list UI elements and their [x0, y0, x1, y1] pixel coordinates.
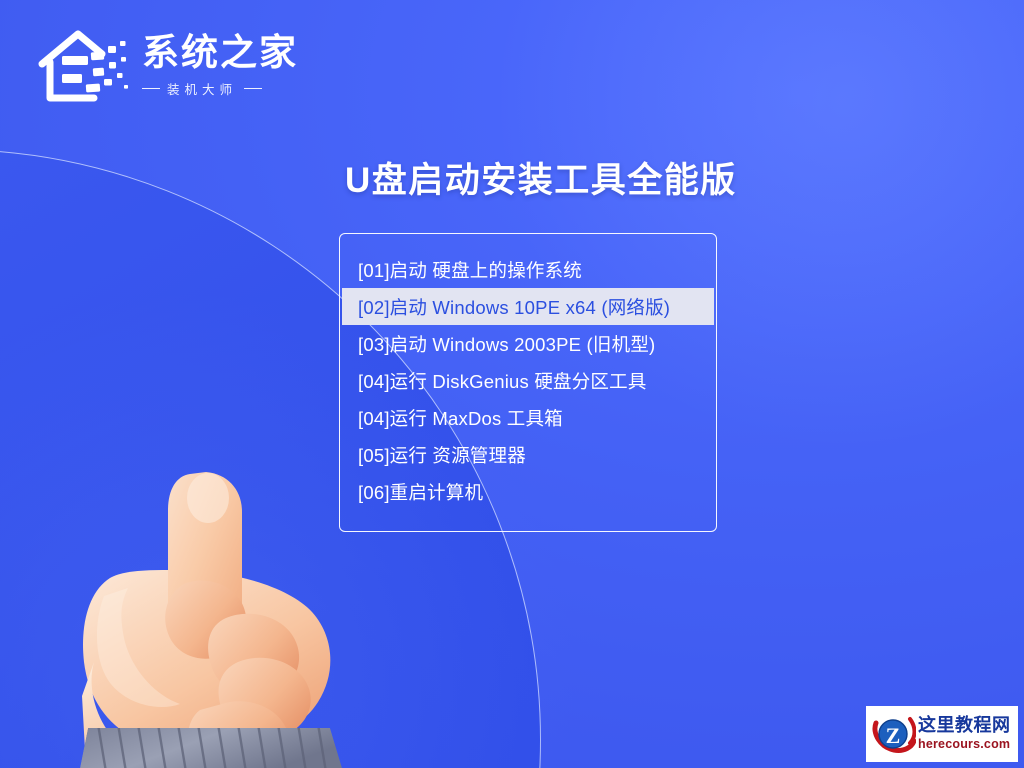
site-watermark: Z 这里教程网 herecours.com — [866, 706, 1018, 762]
logo-text-block: 系统之家 装机大师 — [142, 30, 298, 98]
menu-item-02[interactable]: [02]启动 Windows 10PE x64 (网络版) — [342, 288, 714, 325]
logo-subtitle: 装机大师 — [142, 79, 298, 98]
boot-menu-box: [01]启动 硬盘上的操作系统 [02]启动 Windows 10PE x64 … — [339, 233, 717, 532]
logo-subtitle-text: 装机大师 — [167, 79, 237, 98]
logo-dash-right — [244, 88, 262, 90]
logo-dash-left — [142, 88, 160, 90]
menu-item-05[interactable]: [05]运行 资源管理器 — [342, 436, 714, 473]
z-circle-logo: Z — [870, 711, 916, 757]
watermark-site-name: 这里教程网 — [918, 716, 1011, 736]
menu-item-06[interactable]: [06]重启计算机 — [342, 473, 714, 510]
logo-name: 系统之家 — [142, 34, 298, 72]
menu-item-01[interactable]: [01]启动 硬盘上的操作系统 — [342, 251, 714, 288]
watermark-site-url: herecours.com — [918, 737, 1011, 752]
house-pixel-icon — [36, 22, 132, 106]
brand-logo: 系统之家 装机大师 — [36, 16, 286, 112]
menu-item-03[interactable]: [03]启动 Windows 2003PE (旧机型) — [342, 325, 714, 362]
boot-menu-screen: 系统之家 装机大师 U盘启动安装工具全能版 [01]启动 硬盘上的操作系统 [0… — [0, 0, 1024, 768]
watermark-text-block: 这里教程网 herecours.com — [918, 716, 1011, 752]
menu-item-04-diskgenius[interactable]: [04]运行 DiskGenius 硬盘分区工具 — [342, 362, 714, 399]
svg-text:Z: Z — [886, 723, 901, 748]
menu-item-04-maxdos[interactable]: [04]运行 MaxDos 工具箱 — [342, 399, 714, 436]
page-title: U盘启动安装工具全能版 — [345, 152, 737, 203]
